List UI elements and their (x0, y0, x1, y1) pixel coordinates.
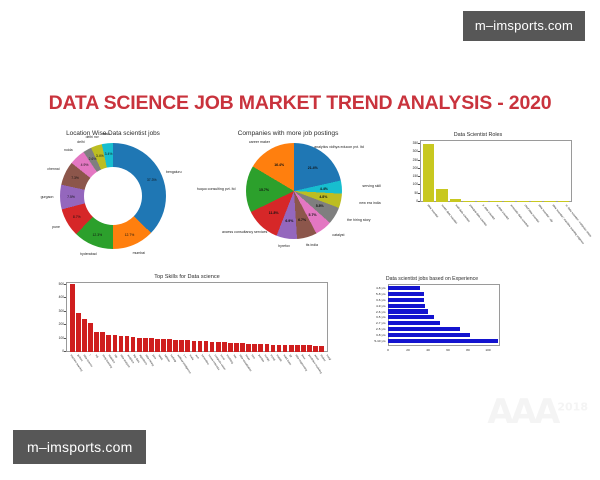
pie-slice-label: career maker (249, 140, 270, 144)
experience-bar (388, 327, 460, 331)
skills-bar (131, 337, 136, 352)
roles-y-tick: 300 (413, 149, 418, 153)
skills-x-tick: hive (251, 354, 256, 360)
chart-location-donut: Location Wise Data scientist jobs 37.3%b… (18, 130, 208, 265)
experience-row: 2-5 yrs (388, 327, 498, 331)
donut-slice-label: chennai (47, 167, 59, 171)
pie-plot-area: 21.4%analytics vidhya educon pvt. ltd4.4… (188, 139, 388, 257)
skills-y-tick: 400 (59, 295, 64, 299)
skills-x-tick: aws (195, 354, 200, 360)
skills-bar (149, 338, 154, 352)
experience-bar (388, 309, 428, 313)
roles-plot-frame: 050100150200250300350 data scientistseni… (420, 140, 572, 202)
roles-y-tick: 350 (413, 141, 418, 145)
donut-slice-label: delhi ncr (86, 135, 99, 139)
experience-x-tick: 40 (426, 348, 429, 352)
experience-bar (388, 298, 424, 302)
ghost-watermark-text: AAA (487, 392, 557, 432)
pie-slice-label: axcess consultancy services (222, 230, 267, 234)
roles-x-tick: chief data scientist (524, 204, 540, 223)
skills-bar (113, 335, 118, 352)
skills-y-tick: 500 (59, 282, 64, 286)
roles-bar (436, 189, 447, 202)
experience-y-tick: 3-8 yrs (376, 333, 385, 337)
chart-title-skills: Top Skills for Data science (42, 274, 332, 280)
pie-slice-label: tis india (306, 243, 318, 247)
experience-x-tick: 100 (485, 348, 490, 352)
chart-experience-bar: Data scientist jobs based on Experience … (352, 276, 512, 376)
roles-x-tick: ai data scientist (496, 204, 510, 220)
watermark-bottom: m–imsports.com (13, 430, 146, 464)
roles-y-tick: 200 (413, 166, 418, 170)
skills-x-tick: sas (232, 354, 237, 359)
pie-slice-label: new era india (359, 201, 380, 205)
skills-x-tick: nlp (114, 354, 118, 359)
experience-row: 2-7 yrs (388, 321, 498, 325)
experience-y-tick: 2-7 yrs (376, 321, 385, 325)
roles-x-tick: sr. data scientist - computer vision (565, 204, 592, 238)
experience-x-tick: 0 (387, 348, 389, 352)
skills-x-tick: java (151, 354, 156, 360)
donut-slice-label: nasik (102, 132, 110, 136)
skills-bar (70, 284, 75, 352)
skills-bar (283, 345, 288, 352)
experience-row: 5-10 yrs (388, 339, 498, 343)
pie-slice-label: catalyst (332, 233, 344, 237)
experience-row: 2-6 yrs (388, 309, 498, 313)
skills-bar (82, 319, 87, 352)
roles-y-tick: 150 (413, 174, 418, 178)
roles-y-tick: 250 (413, 158, 418, 162)
skills-bar-series (70, 284, 324, 352)
skills-bar (88, 323, 93, 352)
experience-plot-frame: 4-8 yrs5-8 yrs3-6 yrs4-9 yrs2-6 yrs3-5 y… (388, 284, 500, 346)
page-title: DATA SCIENCE JOB MARKET TREND ANALYSIS -… (0, 92, 600, 115)
skills-bar (277, 345, 282, 352)
skills-bar (234, 343, 239, 352)
skills-bar (155, 339, 160, 352)
experience-y-tick: 4-9 yrs (376, 304, 385, 308)
donut-slice-label: gurgaon (41, 195, 54, 199)
skills-x-tick: sql (95, 354, 99, 358)
experience-x-tick: 60 (446, 348, 449, 352)
ghost-watermark: AAA2018 (487, 392, 588, 432)
skills-plot-frame: 0100200300400500 machine learningpythond… (66, 282, 328, 352)
skills-bar (192, 341, 197, 352)
roles-x-axis: data scientistsenior data scientistlead … (420, 202, 572, 264)
skills-x-tick: linux (301, 354, 306, 360)
skills-x-tick: nosql (326, 354, 332, 361)
skills-bar (228, 343, 233, 352)
pie-slice-label: serving skill (362, 184, 381, 188)
chart-companies-pie: Companies with more job postings 21.4%an… (188, 130, 388, 265)
ghost-watermark-sub: 2018 (557, 401, 588, 414)
skills-bar (125, 336, 130, 352)
skills-bar (143, 338, 148, 352)
skills-bar (76, 313, 81, 352)
experience-row: 3-6 yrs (388, 298, 498, 302)
skills-bar (222, 342, 227, 352)
experience-x-axis: 020406080100 (388, 346, 500, 356)
skills-bar (301, 345, 306, 352)
experience-row: 5-8 yrs (388, 292, 498, 296)
pie-slice-label: the hiring story (347, 218, 371, 222)
pie-slice-label: analytics vidhya educon pvt. ltd (314, 145, 364, 149)
experience-bar (388, 315, 434, 319)
skills-bar (258, 344, 263, 352)
experience-row: 4-9 yrs (388, 304, 498, 308)
roles-x-tick: lead data scientist (454, 204, 470, 223)
skills-bar (185, 340, 190, 352)
skills-bar (119, 336, 124, 352)
roles-x-tick: data scientist - nlp (537, 204, 553, 223)
skills-bar (295, 345, 300, 352)
experience-y-tick: 3-6 yrs (376, 298, 385, 302)
skills-bar (167, 339, 172, 352)
chart-title-roles: Data Scientist Roles (398, 132, 558, 138)
skills-bar (173, 340, 178, 352)
roles-y-tick: 100 (413, 182, 418, 186)
roles-bar-series (423, 143, 569, 202)
donut-slice-label: noida (64, 148, 73, 152)
donut-plot-area: 37.3%bengaluru12.7%mumbai12.3%hyderabad8… (18, 139, 208, 259)
pie-slice-label: hyrefox (278, 244, 290, 248)
experience-y-tick: 4-8 yrs (376, 286, 385, 290)
experience-y-tick: 2-6 yrs (376, 310, 385, 314)
skills-bar (100, 332, 105, 352)
experience-row: 3-5 yrs (388, 315, 498, 319)
experience-y-tick: 3-5 yrs (376, 315, 385, 319)
chart-title-companies: Companies with more job postings (188, 130, 388, 137)
skills-bar (265, 344, 270, 352)
skills-y-tick: 300 (59, 309, 64, 313)
skills-x-tick: r (89, 354, 92, 356)
skills-y-tick: 100 (59, 336, 64, 340)
experience-bar (388, 286, 420, 290)
donut-hole (60, 143, 166, 249)
donut-slice-label: bengaluru (166, 170, 182, 174)
skills-bar (246, 344, 251, 352)
skills-bar (94, 332, 99, 352)
skills-bar (204, 341, 209, 352)
experience-row: 4-8 yrs (388, 286, 498, 290)
skills-bar (240, 343, 245, 352)
skills-bar (106, 335, 111, 352)
skills-bar (179, 340, 184, 352)
roles-x-tick: jr. data scientist (482, 204, 496, 220)
experience-bar-series: 4-8 yrs5-8 yrs3-6 yrs4-9 yrs2-6 yrs3-5 y… (388, 286, 498, 343)
chart-title-location: Location Wise Data scientist jobs (18, 130, 208, 137)
roles-x-tick: data scientist (427, 204, 439, 218)
roles-y-tick: 0 (416, 199, 418, 203)
experience-bar (388, 292, 424, 296)
experience-bar (388, 333, 470, 337)
experience-row: 3-8 yrs (388, 333, 498, 337)
skills-y-tick: 0 (62, 349, 64, 353)
experience-x-tick: 80 (466, 348, 469, 352)
donut-slice-label: delhi (77, 140, 84, 144)
donut-slice-label: mumbai (133, 251, 145, 255)
experience-bar (388, 304, 425, 308)
donut-slice-label: pune (52, 225, 60, 229)
pie-slice-label: huquo consulting pvt. ltd (197, 187, 236, 191)
skills-x-axis: machine learningpythondata sciencersqlde… (66, 352, 328, 412)
donut-slice-label: hyderabad (80, 252, 97, 256)
skills-bar (210, 342, 215, 352)
skills-x-tick: git (288, 354, 292, 358)
experience-bar (388, 321, 440, 325)
skills-bar (289, 345, 294, 352)
chart-skills-bar: Top Skills for Data science 010020030040… (42, 274, 332, 394)
skills-bar (198, 341, 203, 352)
experience-y-tick: 2-5 yrs (376, 327, 385, 331)
roles-y-tick: 50 (414, 191, 418, 195)
skills-bar (216, 342, 221, 352)
skills-x-tick: c++ (182, 354, 187, 359)
experience-bar (388, 339, 498, 343)
skills-bar (271, 345, 276, 353)
skills-bar (137, 338, 142, 352)
skills-bar (161, 339, 166, 352)
chart-title-experience: Data scientist jobs based on Experience (352, 276, 512, 282)
roles-bar (423, 144, 434, 202)
chart-roles-bar: Data Scientist Roles 0501001502002503003… (398, 132, 558, 265)
skills-bar (252, 344, 257, 352)
experience-x-tick: 20 (406, 348, 409, 352)
experience-y-tick: 5-8 yrs (376, 292, 385, 296)
skills-y-tick: 200 (59, 322, 64, 326)
experience-y-tick: 5-10 yrs (374, 339, 385, 343)
watermark-top: m–imsports.com (463, 11, 585, 41)
